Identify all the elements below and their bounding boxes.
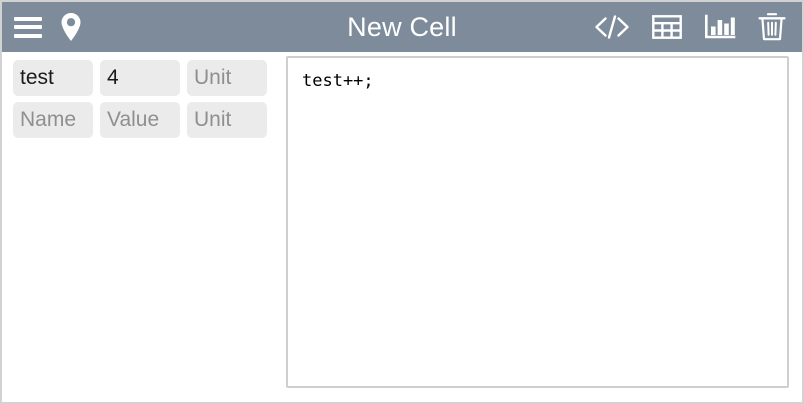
variable-name-input[interactable]: [13, 102, 93, 138]
table-icon: [652, 14, 682, 40]
variable-unit-input[interactable]: [187, 60, 267, 96]
toolbar: New Cell: [2, 2, 802, 52]
cell-body: [2, 52, 802, 402]
trash-icon: [758, 12, 786, 42]
cell-editor-window: New Cell: [0, 0, 804, 404]
code-editor-input[interactable]: [286, 56, 789, 388]
variables-panel: [2, 52, 283, 402]
code-icon: [594, 14, 630, 40]
table-view-button[interactable]: [650, 12, 684, 42]
hamburger-menu-icon: [14, 17, 42, 38]
menu-button[interactable]: [12, 15, 44, 40]
variable-unit-input[interactable]: [187, 102, 267, 138]
variable-value-input[interactable]: [100, 60, 180, 96]
variable-name-input[interactable]: [13, 60, 93, 96]
variable-value-input[interactable]: [100, 102, 180, 138]
location-button[interactable]: [58, 10, 84, 44]
chart-view-button[interactable]: [702, 12, 738, 42]
code-editor-container: [283, 52, 802, 402]
variable-row: [13, 60, 283, 96]
map-pin-icon: [60, 12, 82, 42]
variable-row: [13, 102, 283, 138]
code-view-button[interactable]: [592, 12, 632, 42]
delete-button[interactable]: [756, 10, 788, 44]
toolbar-left-group: [12, 10, 84, 44]
toolbar-right-group: [592, 10, 788, 44]
bar-chart-icon: [704, 14, 736, 40]
